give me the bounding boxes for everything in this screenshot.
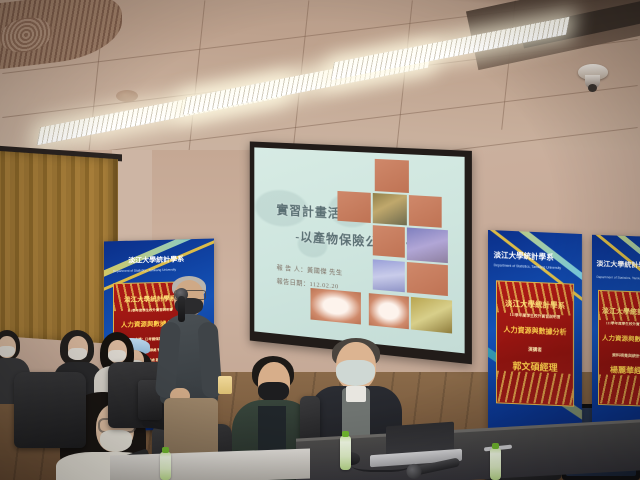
office-chair	[14, 372, 86, 448]
slide-tile	[369, 293, 409, 329]
banner-heading: 淡江大學統計學系	[596, 259, 640, 271]
banner-subheading: Department of Statistics, Tamkang Univer…	[494, 263, 561, 270]
poster-line: 淡江大學統計學系	[117, 293, 182, 305]
poster-line: 楊麗華經理	[602, 364, 640, 377]
drink-cup	[218, 376, 232, 394]
banner-heading: 淡江大學統計學系	[128, 255, 184, 266]
cable	[352, 458, 410, 472]
water-bottle	[160, 452, 171, 480]
water-bottle	[490, 448, 501, 480]
slide-tile	[373, 225, 405, 258]
slide-tile	[311, 288, 361, 325]
banner-subheading: Department of Statistics, Tamkang Univer…	[113, 267, 176, 273]
seminar-room-photo: 實習計畫活動 -以產物保險公司為例 報 告 人：黃國傑 先生 報告日期：112.…	[0, 0, 640, 480]
water-bottle	[340, 436, 351, 470]
poster-line: 人力資源與數據分析	[501, 325, 569, 338]
poster-line: 淡江大學統計學系	[602, 306, 640, 318]
slide-tile-photo	[407, 227, 448, 263]
slide-tile	[407, 262, 448, 296]
banner-subheading: Department of Statistics, Tamkang Univer…	[596, 275, 640, 281]
slide-tile	[409, 195, 442, 228]
banner-poster: 淡江大學統計學系 111學年度學生校外實習說明會 人力資源與數據分析 演講者 郭…	[496, 280, 573, 406]
poster-line: 資料視覺與統計分析	[602, 352, 640, 360]
security-camera-icon	[578, 64, 608, 80]
banner-right-back: 淡江大學統計學系 Department of Statistics, Tamka…	[592, 235, 640, 440]
smoke-detector-icon	[116, 90, 138, 102]
banner-heading: 淡江大學統計學系	[494, 249, 554, 263]
slide-tile-photo	[373, 259, 405, 292]
slide-tile-photo	[411, 297, 452, 334]
projection-screen: 實習計畫活動 -以產物保險公司為例 報 告 人：黃國傑 先生 報告日期：112.…	[254, 147, 464, 353]
banner-right-front: 淡江大學統計學系 Department of Statistics, Tamka…	[488, 230, 582, 442]
slide-tile-photo	[373, 193, 407, 225]
slide-tile	[337, 191, 370, 223]
microphone-icon	[178, 296, 185, 322]
banner-poster: 淡江大學統計學系 111學年度學生校外實習說明會 人力資源與數據分析 資料視覺與…	[598, 289, 640, 406]
collar	[346, 386, 366, 402]
poster-line: 演講者	[501, 345, 569, 354]
poster-line: 111學年度學生校外實習說明會	[602, 321, 640, 328]
poster-line: 人力資源與數據分析	[602, 332, 640, 344]
camera-lens-icon	[588, 84, 597, 92]
wood-panel-wall	[0, 151, 118, 345]
poster-line: 111學年度學生校外實習說明會	[117, 307, 182, 314]
slide-tile	[375, 159, 409, 193]
